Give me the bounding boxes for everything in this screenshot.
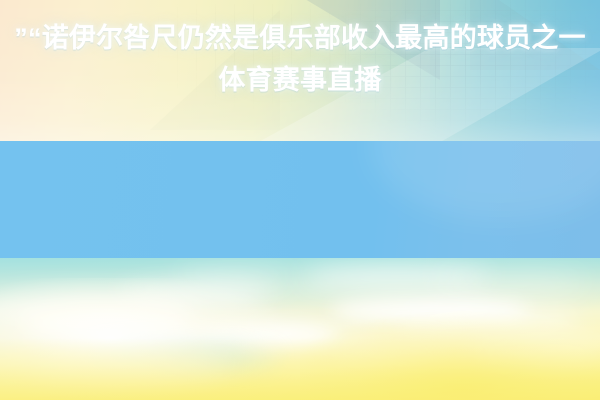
sky-bottom-glow [0, 338, 600, 400]
banner-image: ”“诺伊尔咎尺仍然是俱乐部收入最高的球员之一 体育赛事直播 [0, 0, 600, 400]
sky-background [0, 258, 600, 400]
headline-line-1: ”“诺伊尔咎尺仍然是俱乐部收入最高的球员之一 [14, 18, 585, 58]
headline-band [0, 141, 600, 258]
headline-text: ”“诺伊尔咎尺仍然是俱乐部收入最高的球员之一 体育赛事直播 [0, 0, 600, 117]
headline-band-highlight [370, 141, 600, 221]
headline-line-2: 体育赛事直播 [218, 60, 381, 100]
